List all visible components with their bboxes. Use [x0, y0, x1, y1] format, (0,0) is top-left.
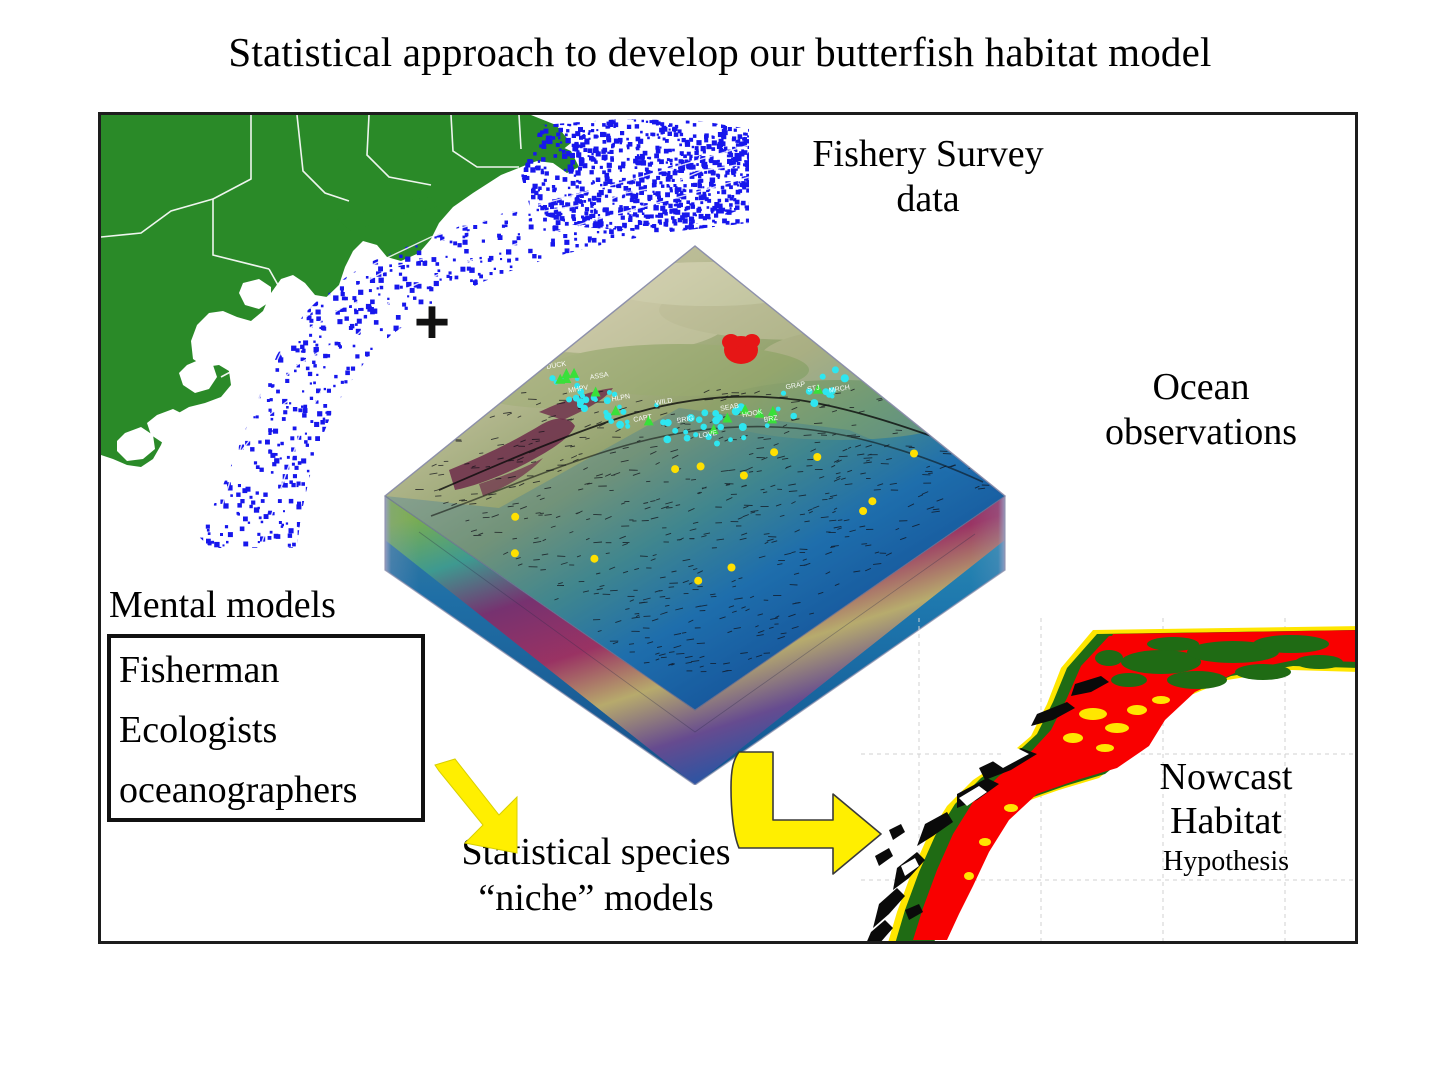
label-fishery-survey: Fishery Survey data — [763, 132, 1093, 222]
label-fishery-line1: Fishery Survey — [763, 132, 1093, 177]
label-nowcast-line2: Habitat — [1091, 799, 1358, 843]
page-title: Statistical approach to develop our butt… — [0, 30, 1440, 75]
arrow-down-right-icon — [421, 755, 531, 860]
label-ocean-observations: Ocean observations — [1041, 365, 1358, 455]
mental-models-box: Fisherman Ecologists oceanographers — [107, 634, 425, 822]
mental-model-item-2: oceanographers — [119, 760, 413, 820]
figure-frame: + — [98, 112, 1358, 944]
label-niche-line2: “niche” models — [401, 876, 791, 922]
label-fishery-line2: data — [763, 177, 1093, 222]
arrow-elbow-right-icon — [729, 748, 889, 880]
label-ocean-line2: observations — [1041, 410, 1358, 455]
mental-model-item-1: Ecologists — [119, 700, 413, 760]
label-nowcast-habitat: Nowcast Habitat Hypothesis — [1091, 755, 1358, 880]
mental-model-item-0: Fisherman — [119, 640, 413, 700]
survey-points-georges-bank — [501, 115, 749, 240]
label-nowcast-line1: Nowcast — [1091, 755, 1358, 799]
label-mental-models: Mental models — [109, 583, 336, 627]
label-nowcast-line3: Hypothesis — [1091, 844, 1358, 880]
label-ocean-line1: Ocean — [1041, 365, 1358, 410]
